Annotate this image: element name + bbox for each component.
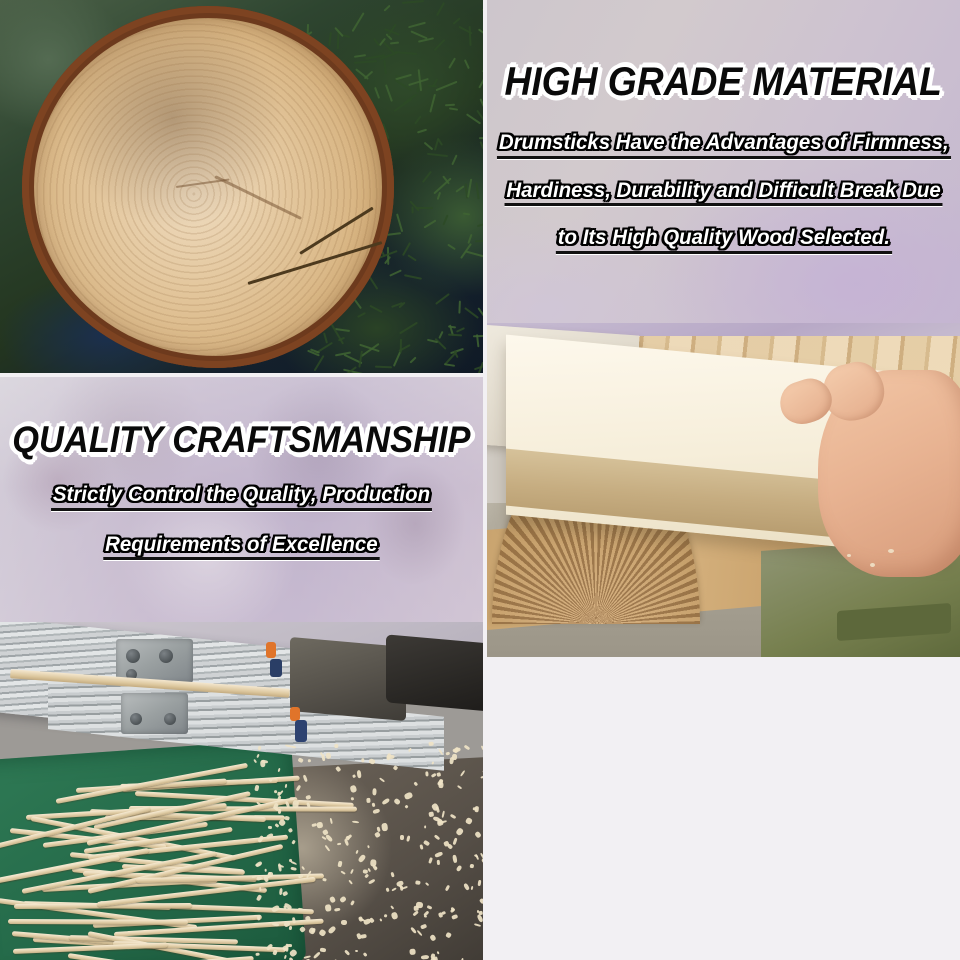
conifer-needle [436,81,458,92]
conifer-needle [478,73,483,88]
conifer-needle [445,104,455,107]
conifer-needle [448,334,462,337]
sawdust-chip [367,844,370,848]
sawdust-chip [450,906,454,911]
conifer-needle [422,171,432,183]
conifer-needle [465,250,483,257]
conifer-needle [442,214,448,225]
sawdust-chip [288,926,292,930]
conifer-needle [433,178,451,195]
heading-quality-craftsmanship: QUALITY CRAFTSMANSHIP [12,419,470,461]
conifer-needle [351,12,364,32]
sawdust-chip [351,796,354,800]
conifer-needle [478,28,483,39]
conifer-needle [479,137,483,139]
conifer-needle [389,270,402,277]
conifer-needle [396,213,403,232]
conifer-needle [453,17,461,25]
conifer-needle [455,185,464,192]
conifer-needle [437,192,441,200]
conifer-needle [402,242,411,256]
conifer-needle [417,129,428,134]
conifer-needle [447,244,456,251]
conifer-needle [427,153,448,157]
conifer-needle [383,5,391,12]
sawdust-chip [308,759,311,762]
bolt-head [126,649,140,663]
conifer-needle [482,9,483,18]
clamp-block [121,693,189,734]
conifer-needle [435,294,450,306]
conifer-needle [331,324,344,344]
conifer-needle [467,178,472,197]
conifer-needle [444,363,455,367]
conifer-needle [387,232,401,236]
sawdust-chip [428,812,433,818]
sawdust-chip [361,758,364,762]
conifer-needle [479,141,483,149]
conifer-needle [423,219,436,228]
sawdust-chip [479,911,483,915]
conifer-needle [456,327,465,332]
drive-motor [386,634,483,711]
conifer-needle [458,301,461,314]
conifer-needle [373,37,380,46]
sawdust-chip [464,745,470,751]
sawdust-fleck [870,563,875,567]
worker-marker [295,720,307,742]
body-line: Drumsticks Have the Advantages of Firmne… [499,131,949,159]
conifer-needle [418,38,434,43]
conifer-needle [436,2,445,16]
conifer-needle [395,51,417,55]
conifer-needle [358,350,363,367]
conifer-needle [408,22,426,29]
conifer-needle [400,322,419,335]
conifer-needle [414,116,421,125]
conifer-needle [475,240,483,243]
sawdust-chip [264,869,267,872]
conifer-needle [313,355,324,372]
conifer-needle [439,331,444,339]
photo-table-saw-cutting [487,323,960,657]
conifer-needle [480,98,483,109]
sawdust-chip [256,915,260,920]
sawdust-chip [277,792,281,796]
conifer-needle [402,0,424,4]
sawdust-chip [482,770,483,773]
panel-quality-craftsmanship: QUALITY CRAFTSMANSHIP Strictly Control t… [0,377,483,622]
conifer-needle [434,338,446,350]
conifer-needle [383,60,387,74]
conifer-needle [451,154,457,165]
conifer-needle [369,305,382,313]
sawdust-chip [420,955,428,960]
conifer-needle [404,274,422,280]
conifer-needle [394,98,413,112]
conifer-needle [390,42,399,45]
conifer-needle [473,335,483,338]
conifer-needle [464,59,470,69]
conifer-needle [393,351,401,366]
log-bark-ring [22,6,394,368]
worker-marker [290,707,300,721]
drumstick [8,919,188,925]
sawdust-chip [469,864,474,868]
conifer-needle [357,312,366,318]
photo-tree-cross-section [0,0,483,373]
sawdust-chip [381,823,388,831]
conifer-needle [448,57,456,69]
product-feature-collage: HIGH GRADE MATERIAL Drumsticks Have the … [0,0,960,960]
conifer-needle [412,206,414,213]
sawdust-chip [481,776,483,779]
sawdust-chip [366,798,371,803]
conifer-needle [408,254,418,261]
sawdust-chip [446,752,450,756]
sawdust-chip [436,860,439,865]
sawdust-chip [415,880,421,884]
conifer-needle [428,84,438,87]
conifer-needle [449,107,458,110]
conifer-needle [477,223,483,227]
conifer-needle [410,356,417,363]
worker-marker [270,659,282,677]
conifer-needle [476,182,480,199]
conifer-needle [437,138,443,146]
conifer-needle [323,333,328,344]
body-line: to Its High Quality Wood Selected. [557,226,889,254]
conifer-needle [374,87,380,99]
conifer-needle [463,213,470,216]
sawdust-chip [452,747,460,753]
conifer-needle [468,26,471,46]
sawdust-chip [385,887,389,892]
conifer-needle [329,32,333,46]
conifer-needle [482,65,483,72]
sawdust-chip [372,788,376,795]
body-line: Hardiness, Durability and Difficult Brea… [506,179,940,207]
body-line: Requirements of Excellence [105,533,377,561]
conifer-needle [424,142,434,151]
conifer-needle [307,24,309,34]
conifer-needle [400,339,402,353]
sawdust-chip [341,919,347,924]
conifer-needle [429,93,436,112]
conifer-needle [385,84,393,101]
sawdust-chip [400,886,404,891]
sawdust-chip [409,949,415,955]
worker-marker [266,642,276,658]
sawdust-chip [325,752,331,759]
conifer-needle [354,60,377,64]
conifer-needle [354,54,366,58]
sawdust-chip [424,825,426,828]
heading-high-grade-material: HIGH GRADE MATERIAL [505,60,942,105]
body-line: Strictly Control the Quality, Production [53,483,430,511]
panel-high-grade-material: HIGH GRADE MATERIAL Drumsticks Have the … [487,0,960,323]
photo-drumstick-machine [0,622,483,960]
sawdust-chip [480,745,483,751]
sawdust-chip [325,904,331,912]
sawdust-fleck [847,554,851,557]
conifer-needle [375,365,392,368]
conifer-needle [434,39,446,51]
sawdust-chip [298,758,304,763]
